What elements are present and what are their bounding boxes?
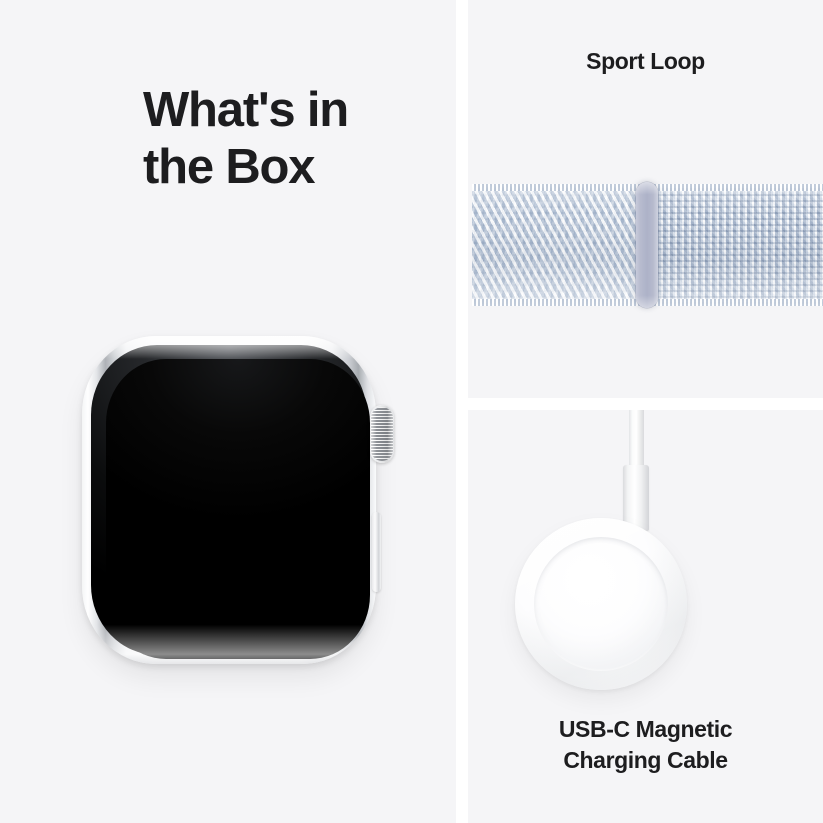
charger-puck-inner-disc (534, 537, 668, 671)
charger-cable-cord (629, 410, 644, 472)
panel-sport-loop: Sport Loop (468, 0, 823, 398)
watch-bezel (91, 345, 367, 655)
panel-charging-cable: USB-C Magnetic Charging Cable (468, 410, 823, 823)
panel-watch: What's in the Box (0, 0, 456, 823)
band-loop-keeper (636, 182, 658, 308)
sport-loop-caption: Sport Loop (468, 46, 823, 77)
product-image-whats-in-the-box: What's in the Box Sport Loop (0, 0, 823, 823)
apple-watch-product-image (82, 336, 380, 666)
side-button (372, 512, 381, 592)
watch-display (106, 359, 370, 659)
digital-crown (370, 405, 394, 463)
charger-puck (515, 518, 687, 690)
sport-loop-product-image (468, 184, 823, 308)
watch-case (82, 336, 376, 664)
page-title: What's in the Box (143, 82, 433, 197)
charging-cable-caption: USB-C Magnetic Charging Cable (468, 714, 823, 776)
charging-cable-product-image (468, 410, 823, 700)
